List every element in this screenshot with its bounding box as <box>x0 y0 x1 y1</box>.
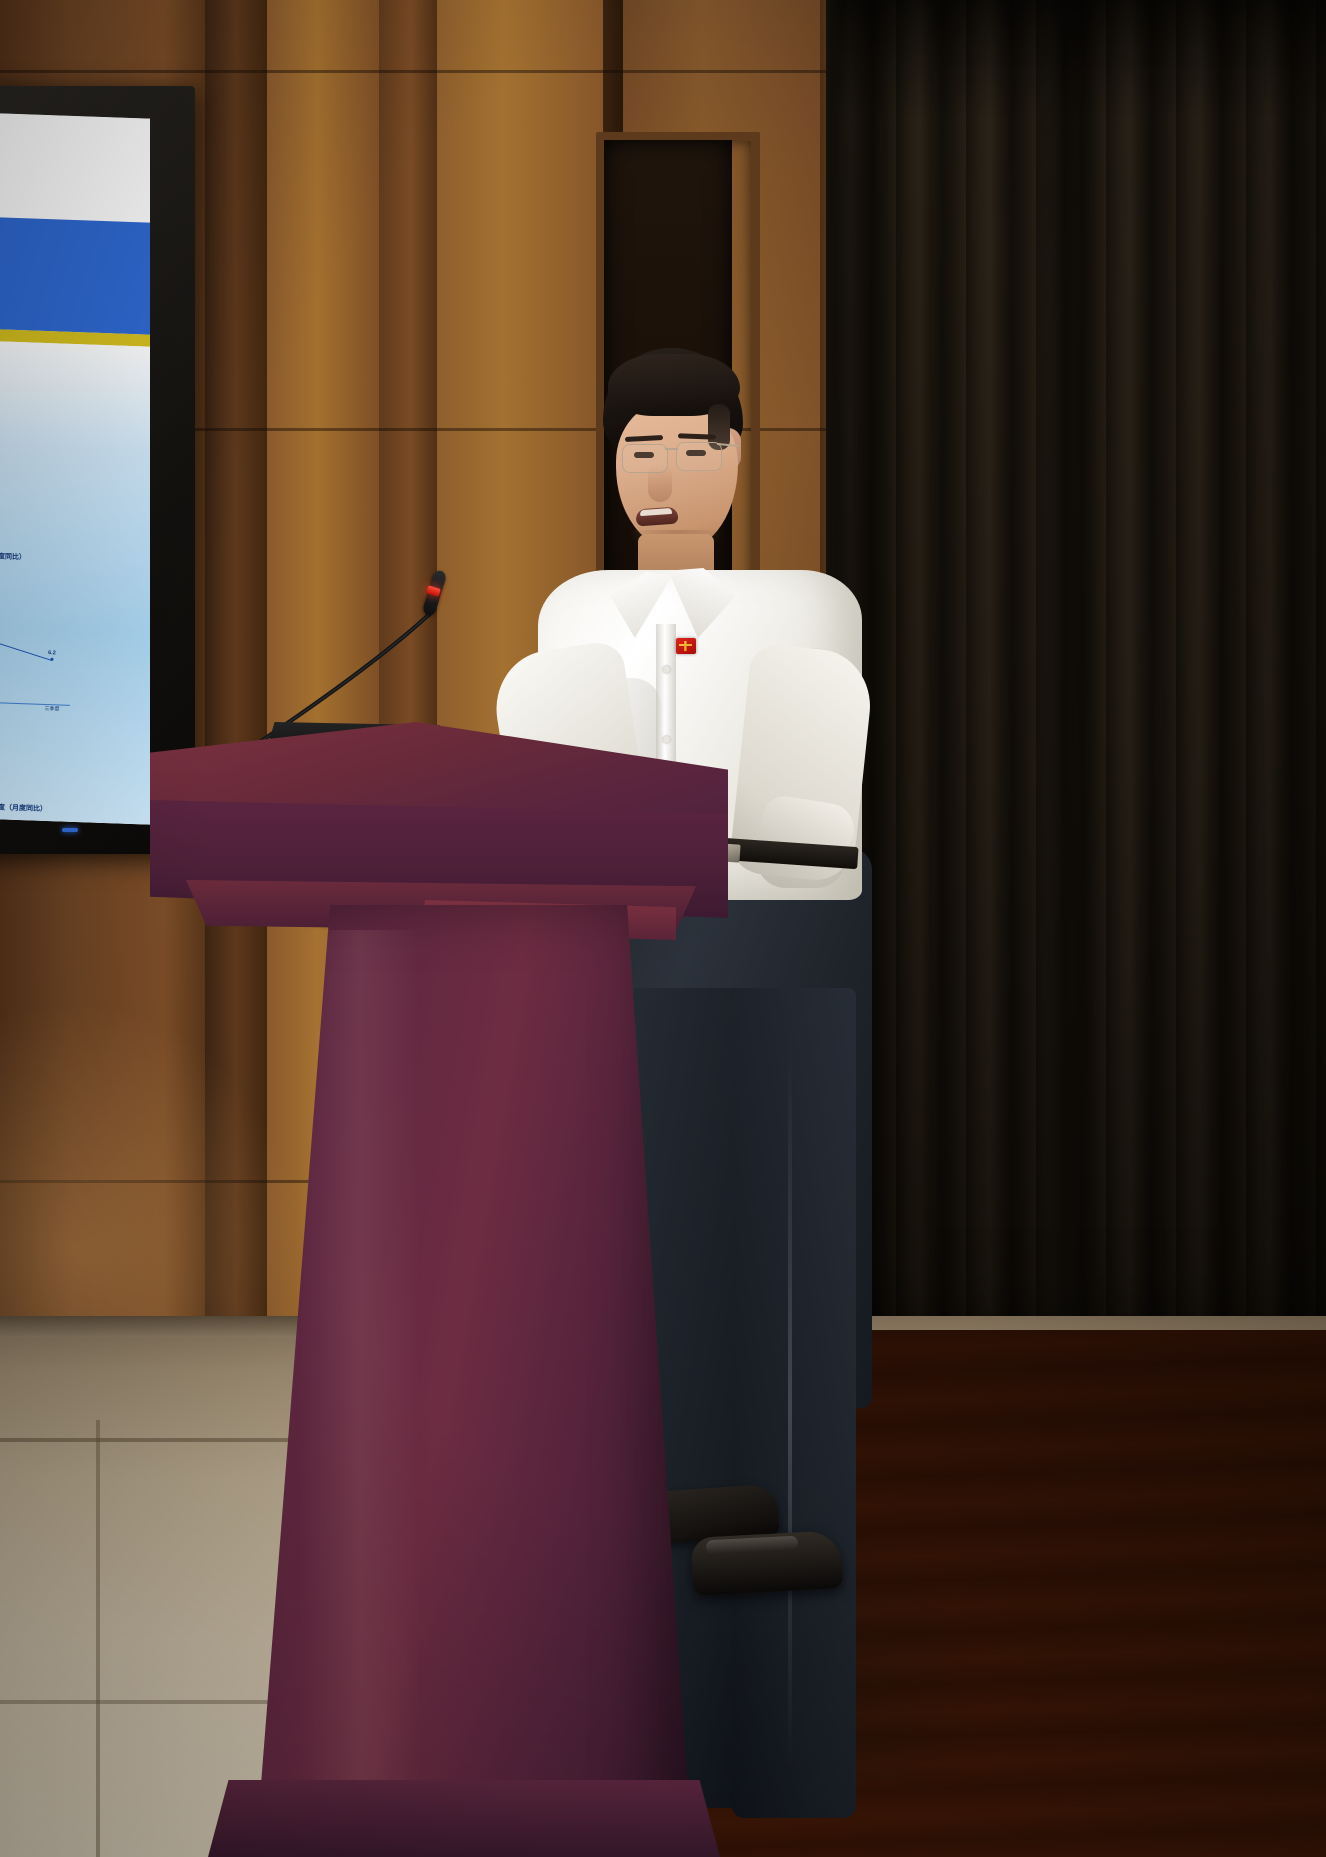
chart-one: 6.46.46.2一季度二季度三季度2019年 <box>0 570 70 736</box>
curtain-top-shadow <box>826 0 1326 120</box>
chart-data-label: 6.2 <box>48 650 56 656</box>
slide-blue-band <box>0 216 150 335</box>
podium-base <box>208 1780 720 1857</box>
nose <box>648 466 672 502</box>
trouser-crease <box>788 1048 792 1768</box>
podium-highlight <box>300 930 420 1830</box>
glasses-lens-right <box>676 442 722 471</box>
display-power-led <box>62 828 78 832</box>
shirt-button <box>663 736 670 743</box>
glasses-bridge <box>665 448 678 450</box>
chart-line-segment <box>0 636 52 661</box>
slide-canvas: 国家统计局 国内生产总值增长速度（季度同比） 6.46.46.2一季度二季度三季… <box>0 112 150 825</box>
chart-data-point <box>51 658 54 661</box>
shirt-button <box>663 666 670 673</box>
photo-scene: 国家统计局 国内生产总值增长速度（季度同比） 6.46.46.2一季度二季度三季… <box>0 0 1326 1857</box>
microphone-gooseneck <box>258 596 472 744</box>
presentation-display[interactable]: 国家统计局 国内生产总值增长速度（季度同比） 6.46.46.2一季度二季度三季… <box>0 112 150 825</box>
leg-right <box>732 988 856 1818</box>
chart-x-tick-label: 三季度 <box>44 705 59 713</box>
floor-tile-seam <box>96 1420 100 1857</box>
curtain-fold-shadow <box>1038 0 1096 1395</box>
